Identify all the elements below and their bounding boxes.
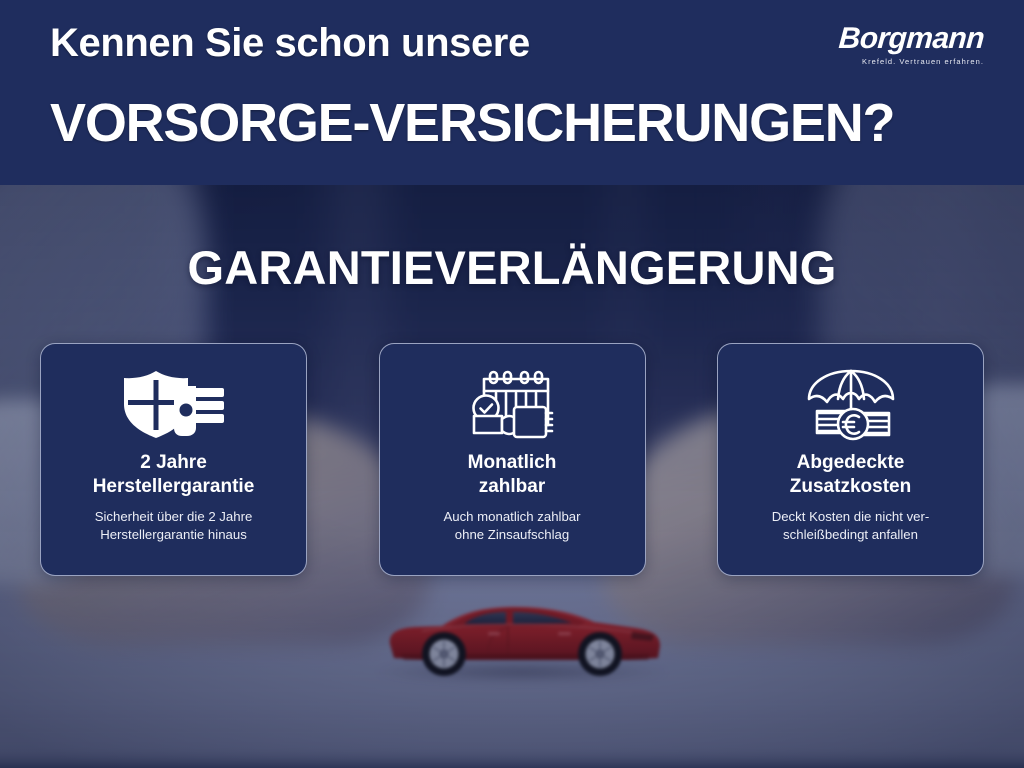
card-description: Deckt Kosten die nicht ver- schleißbedin… xyxy=(772,508,930,545)
borgmann-logo[interactable]: Borgmann Krefeld. Vertrauen erfahren. xyxy=(832,24,984,66)
logo-tagline: Krefeld. Vertrauen erfahren. xyxy=(832,58,984,66)
header-band: Kennen Sie schon unsere VORSORGE-VERSICH… xyxy=(0,0,1024,185)
feature-card-zusatzkosten[interactable]: Abgedeckte Zusatzkosten Deckt Kosten die… xyxy=(717,343,984,576)
card-title: Monatlich zahlbar xyxy=(468,451,557,499)
logo-wordmark: Borgmann xyxy=(831,24,985,54)
card-description: Sicherheit über die 2 Jahre Herstellerga… xyxy=(95,508,253,545)
feature-card-list: 2 Jahre Herstellergarantie Sicherheit üb… xyxy=(40,343,984,576)
card-title: Abgedeckte Zusatzkosten xyxy=(790,451,911,499)
umbrella-euro-coins-icon xyxy=(801,366,901,444)
promo-banner: Kennen Sie schon unsere VORSORGE-VERSICH… xyxy=(0,0,1024,768)
feature-card-herstellergarantie[interactable]: 2 Jahre Herstellergarantie Sicherheit üb… xyxy=(40,343,307,576)
shield-engine-icon xyxy=(120,366,228,444)
calendar-check-hand-card-icon xyxy=(466,366,558,444)
card-description: Auch monatlich zahlbar ohne Zinsaufschla… xyxy=(443,508,580,545)
card-title: 2 Jahre Herstellergarantie xyxy=(93,451,255,499)
page-title: GARANTIEVERLÄNGERUNG xyxy=(0,240,1024,295)
header-kicker: Kennen Sie schon unsere xyxy=(50,21,530,66)
header-headline: VORSORGE-VERSICHERUNGEN? xyxy=(50,92,894,154)
feature-card-monatlich-zahlbar[interactable]: Monatlich zahlbar Auch monatlich zahlbar… xyxy=(379,343,646,576)
